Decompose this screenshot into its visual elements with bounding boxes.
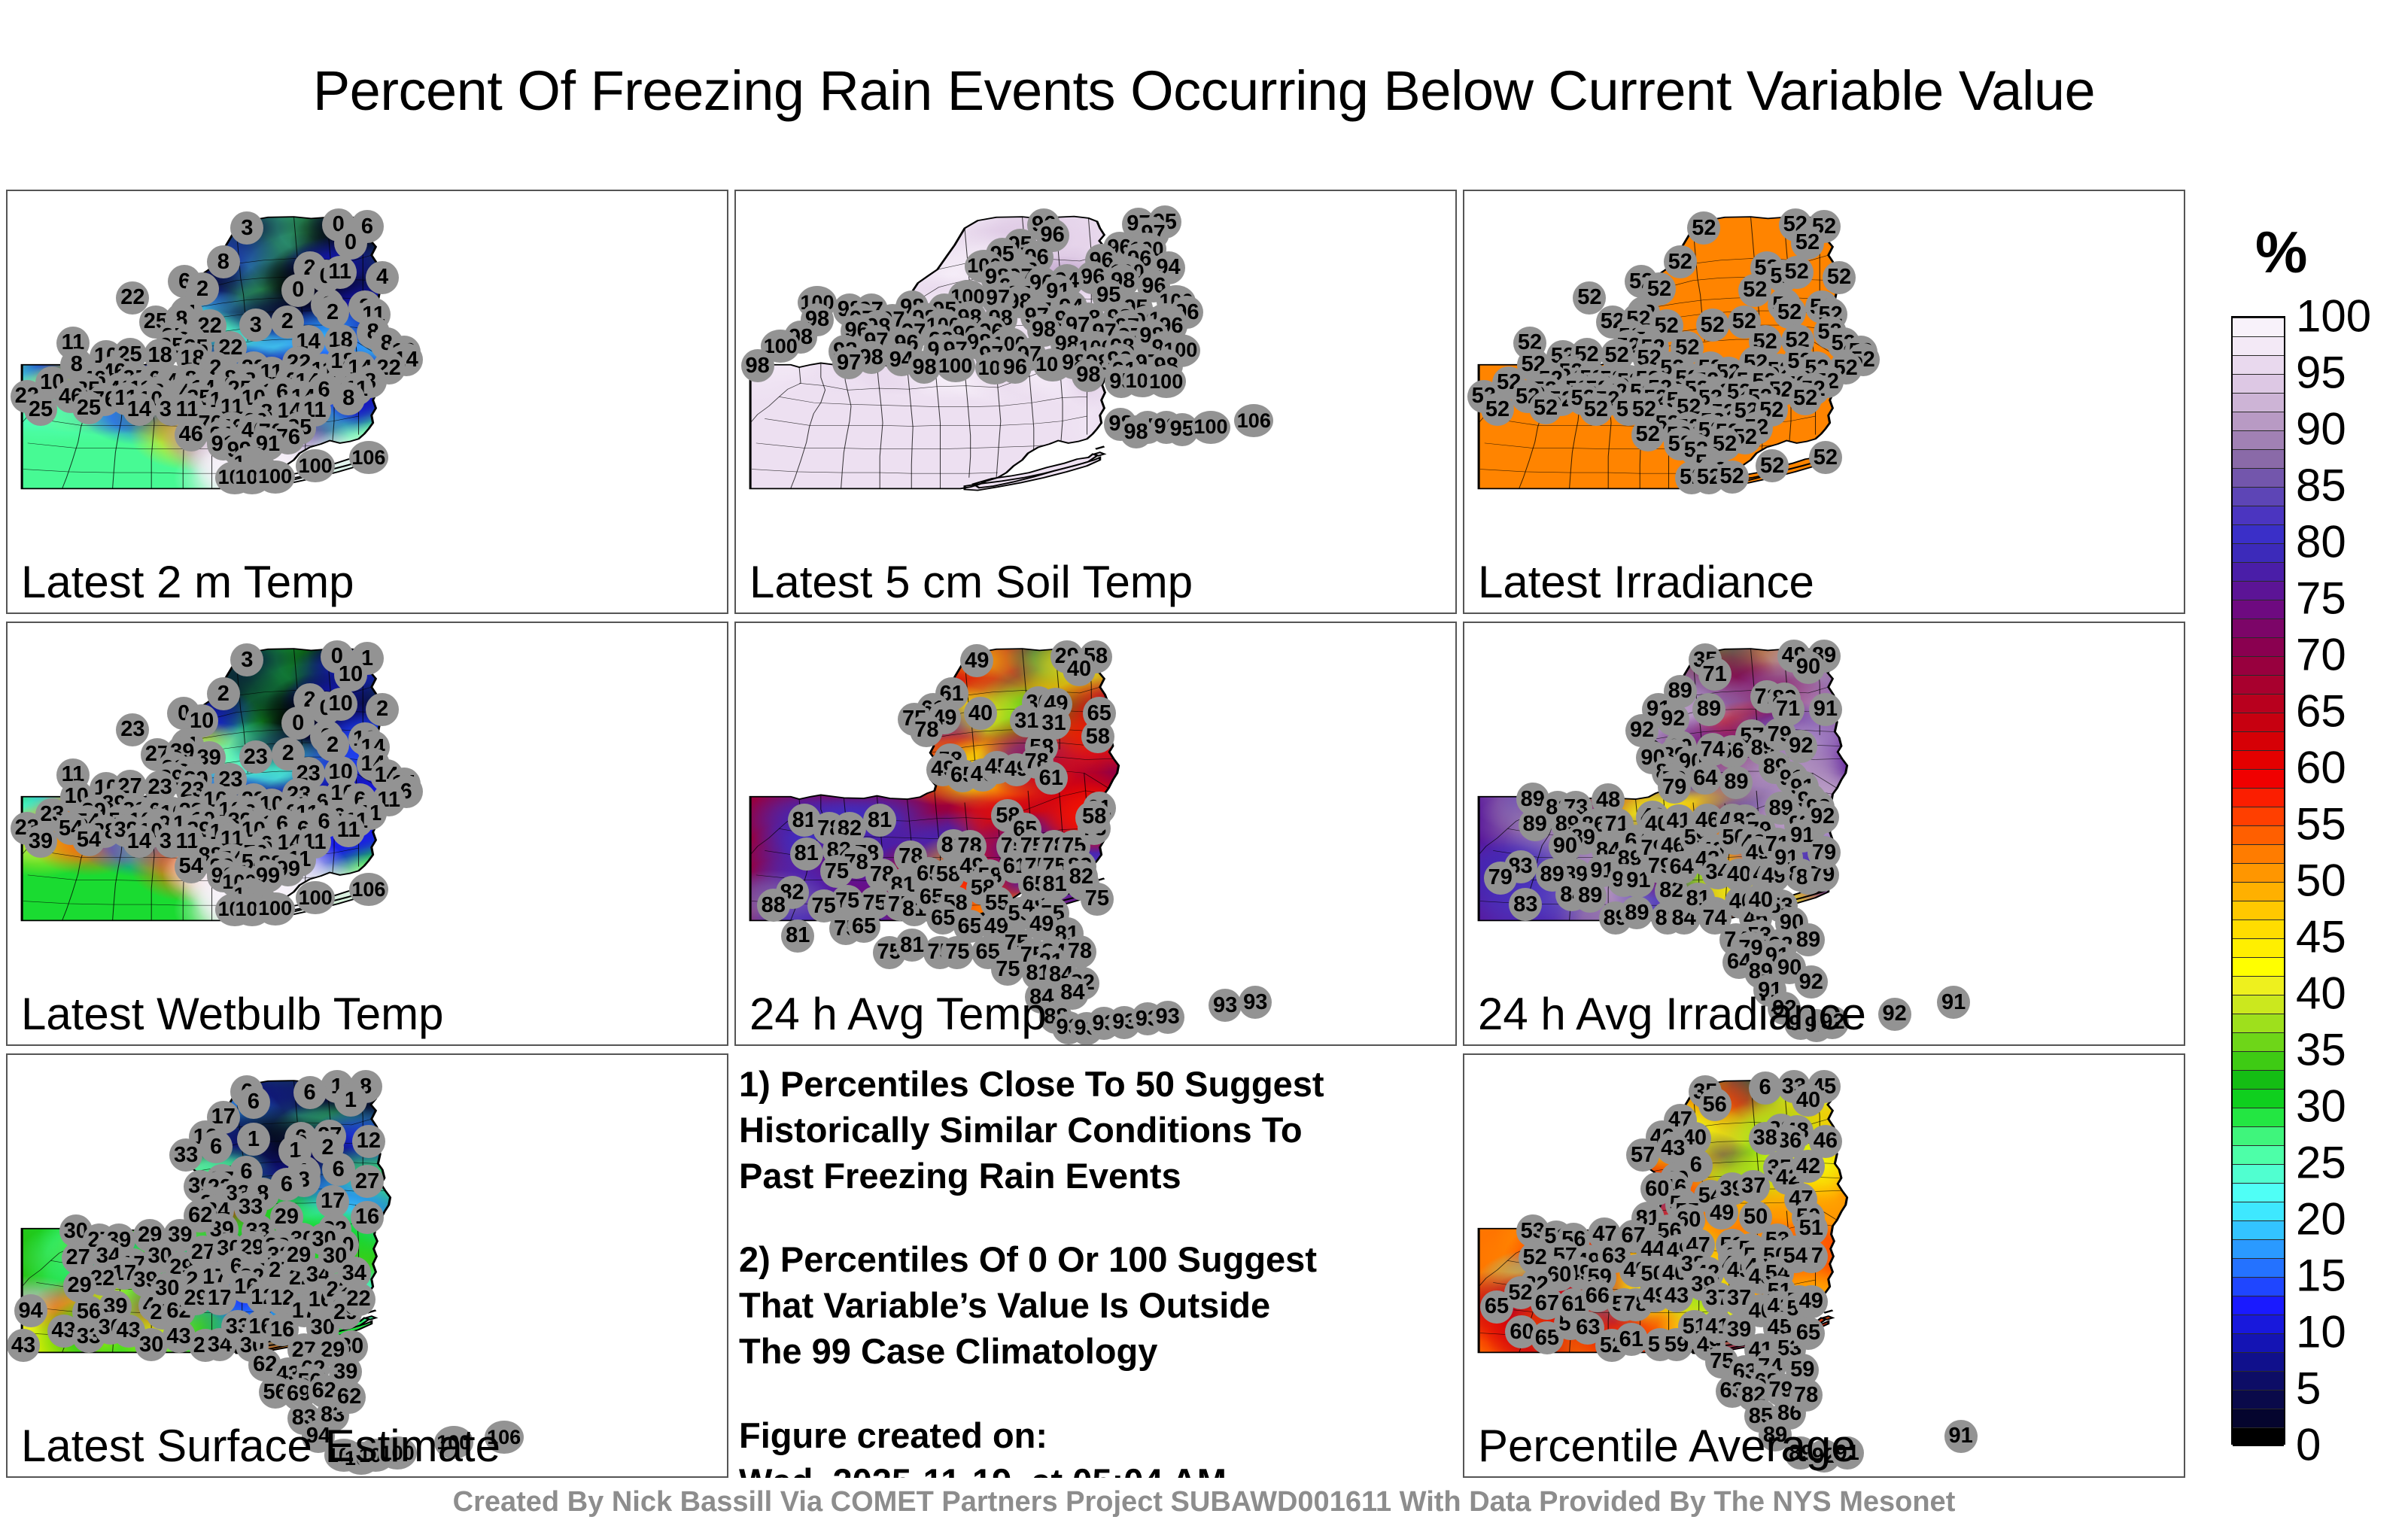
panel-percentile-average: 3563345564047384836463846574063542424349… [1463,1053,2185,1478]
station-marker[interactable]: 92 [1878,998,1911,1031]
colorbar-tick: 0 [2296,1419,2321,1471]
colorbar-segment [2233,1390,2284,1409]
station-marker[interactable]: 10 [324,688,357,721]
created-on-value: Wed, 2025-11-19, at 05:04 AM [739,1458,1439,1478]
colorbar-tick: 35 [2296,1024,2346,1076]
panel-notes: 1) Percentiles Close To 50 Suggest Histo… [734,1053,1457,1478]
colorbar-segment [2233,1315,2284,1333]
colorbar-segment [2233,788,2284,807]
panel-24h-avg-irradiance: 3549899071897189719189919292578956799290… [1463,622,2185,1046]
colorbar-segment [2233,355,2284,374]
station-marker[interactable]: 90 [1792,651,1825,684]
panel-label-latest-wetbulb-temp: Latest Wetbulb Temp [21,988,443,1040]
colorbar-tick: 25 [2296,1137,2346,1189]
station-marker[interactable]: 25 [72,391,105,424]
map-canvas: 9696979597959695100961009696941009697989… [736,191,1455,612]
colorbar-segment [2233,1145,2284,1164]
colorbar-tick: 100 [2296,290,2371,342]
colorbar-unit-label: % [2255,218,2307,287]
colorbar-segment [2233,543,2284,562]
created-on-label: Figure created on: [739,1412,1439,1458]
colorbar-segment [2233,844,2284,863]
station-marker[interactable]: 4 [366,261,399,294]
station-marker[interactable]: 94 [14,1294,47,1327]
station-marker[interactable]: 96 [999,351,1032,384]
station-marker[interactable]: 92 [1784,730,1817,763]
station-marker[interactable]: 11 [332,814,365,847]
station-marker[interactable]: 93 [1151,1001,1184,1034]
colorbar-tick: 30 [2296,1081,2346,1132]
panel-label-latest-5cm-soil-temp: Latest 5 cm Soil Temp [749,556,1193,608]
colorbar-segment [2233,1164,2284,1183]
explanatory-notes: 1) Percentiles Close To 50 Suggest Histo… [739,1061,1439,1478]
station-marker[interactable]: 61 [1035,761,1068,795]
colorbar-segment [2233,430,2284,449]
colorbar-segment [2233,468,2284,487]
station-marker[interactable]: 100 [296,881,335,914]
colorbar-segment [2233,336,2284,355]
colorbar-segment [2233,807,2284,825]
colorbar-segment [2233,1371,2284,1390]
colorbar-tick: 20 [2296,1193,2346,1245]
station-marker[interactable]: 52 [1664,245,1697,278]
panel-grid: 3060862222011400221125118223282525353511… [6,190,2188,1481]
station-marker[interactable]: 91 [1944,1420,1978,1453]
credit-footer: Created By Nick Bassill Via COMET Partne… [0,1486,2408,1518]
colorbar-segment [2233,1220,2284,1239]
station-marker[interactable]: 6 [237,1086,270,1119]
map-canvas: 3549899071897189719189919292578956799290… [1464,623,2184,1044]
colorbar-segment [2233,731,2284,750]
map-canvas: 3563345564047384836463846574063542424349… [1464,1055,2184,1476]
colorbar-segment [2233,1202,2284,1220]
colorbar-segment [2233,769,2284,788]
station-marker[interactable]: 49 [1795,1285,1828,1318]
colorbar-segment [2233,619,2284,637]
map-canvas: 3060862222011400221125118223282525353511… [8,191,727,612]
station-marker[interactable]: 65 [847,910,880,943]
station-marker[interactable]: 89 [1719,766,1753,799]
station-marker[interactable]: 92 [1806,801,1839,834]
panel-24h-avg-temp: 4929584061617536493131654940785849654045… [734,622,1457,1046]
station-marker[interactable]: 52 [1687,211,1720,245]
station-marker[interactable]: 89 [1620,896,1653,929]
station-marker[interactable]: 52 [1481,393,1514,426]
station-marker[interactable]: 52 [1716,460,1749,494]
station-marker[interactable]: 6 [293,1076,327,1109]
colorbar-segment [2233,1352,2284,1371]
station-marker[interactable]: 89 [1792,923,1825,956]
note-1: 1) Percentiles Close To 50 Suggest Histo… [739,1061,1439,1199]
station-marker[interactable]: 81 [863,804,896,837]
station-marker[interactable]: 56 [1698,1088,1732,1121]
station-marker[interactable]: 40 [1744,883,1777,916]
colorbar-segment [2233,1051,2284,1070]
station-marker[interactable]: 52 [1780,256,1814,289]
colorbar-tick: 15 [2296,1250,2346,1302]
colorbar-tick: 80 [2296,516,2346,568]
colorbar-segment [2233,694,2284,713]
colorbar-segment [2233,1126,2284,1145]
colorbar-tick: 75 [2296,573,2346,625]
station-marker[interactable]: 52 [1791,226,1824,260]
station-marker[interactable]: 78 [1063,935,1096,968]
colorbar-segment [2233,524,2284,543]
panel-latest-surface-estimate: 6186611716336271121266136273927223386171… [6,1053,728,1478]
station-marker[interactable]: 16 [351,1201,384,1234]
colorbar-tick: 60 [2296,742,2346,794]
station-marker[interactable]: 43 [1656,1132,1689,1165]
station-marker[interactable]: 62 [184,1199,217,1233]
colorbar: % 10095908580757065605550454035302520151… [2231,316,2393,1445]
map-canvas: 3011020102320102002101427113939232142323… [8,623,727,1044]
station-marker[interactable]: 52 [1738,274,1771,307]
station-marker[interactable]: 46 [175,418,208,451]
station-marker[interactable]: 58 [1081,720,1114,753]
panel-label-24h-avg-temp: 24 h Avg Temp [749,988,1047,1040]
colorbar-segment [2233,863,2284,882]
colorbar-segment [2233,995,2284,1014]
station-marker[interactable]: 78 [910,714,943,747]
station-marker[interactable]: 10 [334,658,367,692]
colorbar-tick: 55 [2296,798,2346,850]
station-marker[interactable]: 43 [7,1329,40,1362]
station-marker[interactable]: 14 [123,825,156,858]
station-marker[interactable]: 27 [351,1165,384,1198]
colorbar-segment [2233,1032,2284,1051]
station-marker[interactable]: 100 [1147,365,1186,398]
station-marker[interactable]: 0 [334,226,367,260]
colorbar-segment [2233,656,2284,675]
station-marker[interactable]: 93 [1239,986,1272,1019]
station-marker[interactable]: 71 [1698,658,1732,691]
colorbar-gradient [2231,316,2285,1445]
station-marker[interactable]: 91 [1809,693,1842,726]
panel-latest-irradiance: 5252525252525252525252525252525252525252… [1463,190,2185,614]
panel-latest-2m-temp: 3060862222011400221125118223282525353511… [6,190,728,614]
colorbar-segment [2233,750,2284,769]
station-marker[interactable]: 75 [1081,883,1114,916]
station-marker[interactable]: 6 [199,1130,233,1163]
station-marker[interactable]: 98 [1120,415,1153,448]
station-marker[interactable]: 75 [991,953,1024,986]
colorbar-tick: 65 [2296,685,2346,737]
station-marker[interactable]: 79 [1484,862,1517,895]
panel-latest-wetbulb-temp: 3011020102320102002101427113939232142323… [6,622,728,1046]
colorbar-segment [2233,1089,2284,1108]
station-marker[interactable]: 40 [964,697,997,730]
station-marker[interactable]: 38 [1749,1122,1782,1155]
colorbar-tick: 50 [2296,855,2346,907]
station-marker[interactable]: 61 [1615,1323,1648,1356]
station-marker[interactable]: 88 [757,889,790,922]
station-marker[interactable]: 52 [1696,309,1729,342]
station-marker[interactable]: 79 [1658,771,1691,804]
colorbar-segment [2233,957,2284,976]
colorbar-tick: 70 [2296,629,2346,681]
colorbar-segment [2233,1070,2284,1089]
station-marker[interactable]: 49 [1705,1196,1738,1230]
coastline-fragment [1096,446,1104,448]
colorbar-segment [2233,637,2284,656]
station-marker[interactable]: 64 [1689,761,1722,795]
colorbar-segment [2233,938,2284,957]
station-marker[interactable]: 52 [1529,391,1562,424]
station-marker[interactable]: 79 [1808,836,1841,869]
station-marker[interactable]: 83 [1509,888,1542,921]
station-marker[interactable]: 40 [1063,653,1096,686]
station-marker[interactable]: 6 [1749,1071,1782,1105]
colorbar-tick: 5 [2296,1363,2321,1415]
colorbar-segment [2233,1183,2284,1202]
station-marker[interactable]: 0 [281,274,315,307]
colorbar-segment [2233,882,2284,901]
colorbar-tick: 85 [2296,460,2346,512]
station-marker[interactable]: 81 [790,837,823,871]
note-2: 2) Percentiles Of 0 Or 100 Suggest That … [739,1236,1439,1374]
colorbar-tick: 45 [2296,911,2346,963]
map-canvas: 6186611716336271121266136273927223386171… [8,1055,727,1476]
colorbar-segment [2233,1409,2284,1427]
station-marker[interactable]: 100 [256,892,295,926]
station-marker[interactable]: 37 [1737,1170,1770,1203]
station-marker[interactable]: 2 [366,693,399,726]
colorbar-segment [2233,412,2284,430]
panel-latest-5cm-soil-temp: 9696979597959695100961009696941009697989… [734,190,1457,614]
station-marker[interactable]: 65 [1792,1317,1825,1350]
colorbar-segment [2233,976,2284,995]
station-marker[interactable]: 65 [1480,1290,1513,1324]
station-marker[interactable]: 11 [324,256,357,289]
station-marker[interactable]: 58 [1078,801,1111,834]
station-marker[interactable]: 54 [1779,1240,1812,1273]
colorbar-segment [2233,393,2284,412]
colorbar-segment [2233,713,2284,731]
colorbar-segment [2233,1427,2284,1446]
colorbar-segment [2233,919,2284,938]
panel-label-latest-surface-estimate: Latest Surface Estimate [21,1420,500,1472]
page-title: Percent Of Freezing Rain Events Occurrin… [0,59,2408,123]
station-marker[interactable]: 23 [239,740,272,774]
station-marker[interactable]: 23 [116,713,149,746]
panel-label-percentile-average: Percentile Average [1478,1420,1856,1472]
colorbar-tick: 90 [2296,403,2346,455]
station-marker[interactable]: 98 [741,349,774,382]
station-marker[interactable]: 81 [781,919,814,953]
colorbar-segment [2233,675,2284,694]
panel-label-latest-irradiance: Latest Irradiance [1478,556,1814,608]
station-marker[interactable]: 52 [1756,449,1789,482]
map-canvas: 4929584061617536493131654940785849654045… [736,623,1455,1044]
station-marker[interactable]: 8 [332,382,365,415]
station-marker[interactable]: 100 [936,349,975,382]
station-marker[interactable]: 75 [820,855,853,888]
station-marker[interactable]: 52 [1823,261,1856,294]
station-marker[interactable]: 52 [1631,418,1665,451]
station-marker[interactable]: 74 [1696,733,1729,766]
station-marker[interactable]: 78 [1789,1378,1823,1412]
colorbar-tick: 95 [2296,347,2346,399]
station-marker[interactable]: 62 [333,1381,366,1414]
station-marker[interactable]: 42 [1792,1150,1825,1183]
station-marker[interactable]: 54 [72,823,105,856]
map-canvas: 5252525252525252525252525252525252525252… [1464,191,2184,612]
colorbar-segment [2233,1296,2284,1315]
station-marker[interactable]: 22 [342,1283,375,1316]
station-marker[interactable]: 14 [123,393,156,426]
colorbar-tick: 10 [2296,1306,2346,1358]
colorbar-segment [2233,487,2284,506]
station-marker[interactable]: 40 [1792,1084,1825,1117]
station-marker[interactable]: 93 [1209,989,1242,1022]
colorbar-segment [2233,581,2284,600]
station-marker[interactable]: 100 [256,460,295,494]
colorbar-tick: 40 [2296,968,2346,1020]
station-marker[interactable]: 3 [239,309,272,342]
colorbar-segment [2233,506,2284,524]
station-marker[interactable]: 12 [352,1125,385,1158]
station-marker[interactable]: 57 [1626,1138,1659,1172]
station-marker[interactable]: 25 [24,393,57,426]
colorbar-segment [2233,562,2284,581]
station-marker[interactable]: 39 [24,825,57,858]
station-marker[interactable]: 89 [1692,693,1725,726]
station-marker[interactable]: 2 [207,677,240,710]
station-marker[interactable]: 100 [296,449,335,482]
colorbar-segment [2233,1014,2284,1032]
colorbar-segment [2233,825,2284,844]
station-marker[interactable]: 49 [960,644,993,677]
panel-label-latest-2m-temp: Latest 2 m Temp [21,556,354,608]
colorbar-segment [2233,600,2284,619]
station-marker[interactable]: 52 [1579,393,1613,426]
station-marker[interactable]: 98 [1072,359,1105,392]
station-marker[interactable]: 100 [1191,411,1230,444]
colorbar-segment [2233,1277,2284,1296]
station-marker[interactable]: 97 [832,346,865,379]
colorbar-segment [2233,318,2284,336]
station-marker[interactable]: 91 [1937,986,1970,1019]
colorbar-segment [2233,1258,2284,1277]
colorbar-segment [2233,1333,2284,1352]
station-marker[interactable]: 54 [175,850,208,883]
colorbar-segment [2233,449,2284,468]
created-on-block: Figure created on:Wed, 2025-11-19, at 05… [739,1412,1439,1478]
colorbar-segment [2233,374,2284,393]
station-marker[interactable]: 1 [237,1123,270,1156]
colorbar-segment [2233,1108,2284,1126]
station-marker[interactable]: 89 [1519,808,1552,841]
station-marker[interactable]: 33 [169,1138,202,1172]
colorbar-segment [2233,1239,2284,1258]
coastline-fragment [1824,1310,1832,1312]
panel-label-24h-avg-irradiance: 24 h Avg Irradiance [1478,988,1866,1040]
station-marker[interactable]: 8 [207,245,240,278]
colorbar-segment [2233,901,2284,919]
station-marker[interactable]: 52 [1789,382,1822,415]
station-marker[interactable]: 52 [1809,441,1842,474]
